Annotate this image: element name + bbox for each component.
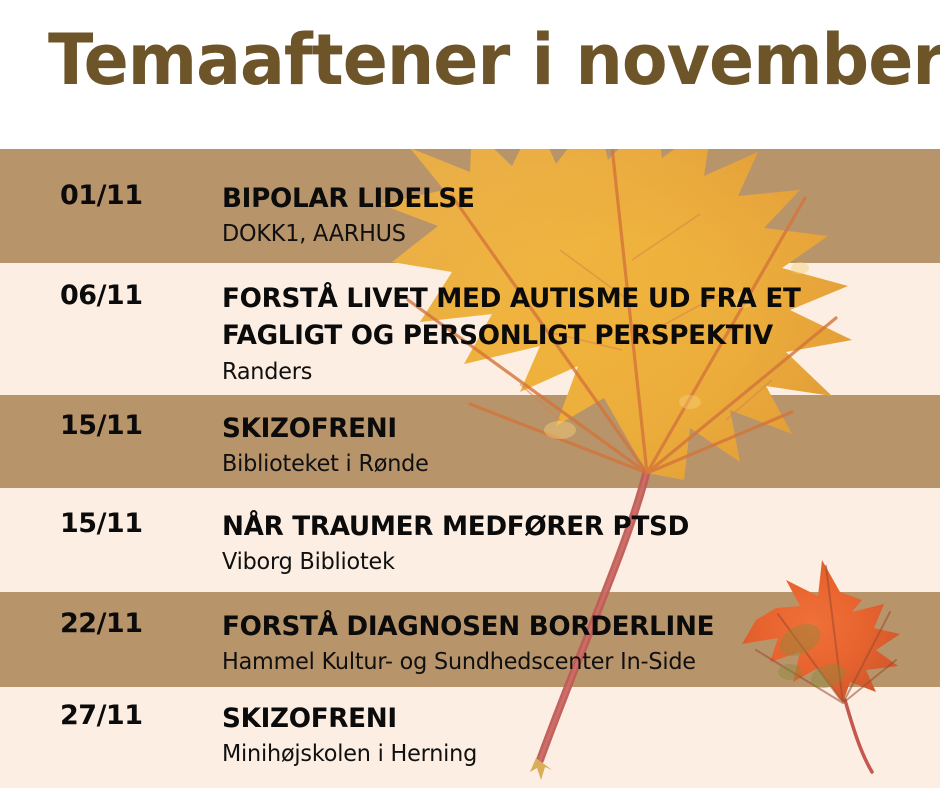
poster-canvas: Temaaftener i november 01/11 BIPOLAR LID… <box>0 0 940 788</box>
event-venue: DOKK1, AARHUS <box>222 220 901 250</box>
event-date: 22/11 <box>60 608 143 639</box>
event-venue: Randers <box>222 358 901 388</box>
event-title: NÅR TRAUMER MEDFØRER PTSD <box>222 508 901 545</box>
event-date: 27/11 <box>60 700 143 731</box>
event-title: SKIZOFRENI <box>222 410 901 447</box>
event-date: 15/11 <box>60 508 143 539</box>
event-body: FORSTÅ DIAGNOSEN BORDERLINE Hammel Kultu… <box>222 608 922 678</box>
event-title: SKIZOFRENI <box>222 700 901 737</box>
event-venue: Viborg Bibliotek <box>222 548 901 578</box>
event-body: NÅR TRAUMER MEDFØRER PTSD Viborg Bibliot… <box>222 508 922 578</box>
event-venue: Biblioteket i Rønde <box>222 450 901 480</box>
page-title: Temaaftener i november <box>48 22 940 99</box>
event-body: SKIZOFRENI Biblioteket i Rønde <box>222 410 922 480</box>
event-body: FORSTÅ LIVET MED AUTISME UD FRA ET FAGLI… <box>222 280 922 387</box>
event-title: BIPOLAR LIDELSE <box>222 180 901 217</box>
header-band: Temaaftener i november <box>0 0 940 149</box>
event-date: 15/11 <box>60 410 143 441</box>
event-body: SKIZOFRENI Minihøjskolen i Herning <box>222 700 922 770</box>
event-title: FORSTÅ LIVET MED AUTISME UD FRA ET FAGLI… <box>222 280 901 355</box>
event-title: FORSTÅ DIAGNOSEN BORDERLINE <box>222 608 901 645</box>
event-venue: Hammel Kultur- og Sundhedscenter In-Side <box>222 648 901 678</box>
event-date: 01/11 <box>60 180 143 211</box>
event-date: 06/11 <box>60 280 143 311</box>
event-venue: Minihøjskolen i Herning <box>222 740 901 770</box>
event-body: BIPOLAR LIDELSE DOKK1, AARHUS <box>222 180 922 250</box>
